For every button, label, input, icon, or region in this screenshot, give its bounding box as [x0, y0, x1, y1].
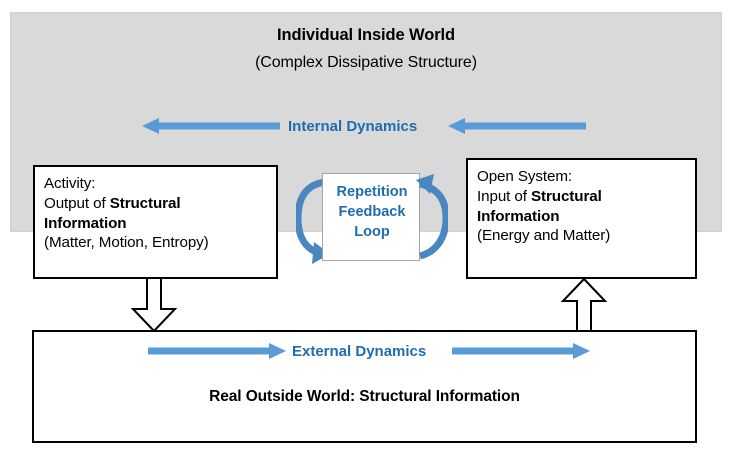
activity-line-4: (Matter, Motion, Entropy) [44, 234, 209, 251]
open-system-line-2-prefix: Input of [477, 188, 531, 205]
feedback-loop-line-3: Loop [354, 224, 389, 240]
inside-world-subtitle: (Complex Dissipative Structure) [10, 54, 722, 72]
feedback-loop-right-curve-arrow [416, 172, 448, 264]
external-dynamics-right-arrow [452, 343, 590, 359]
activity-line-1: Activity: [44, 175, 95, 192]
activity-line-2-prefix: Output of [44, 195, 110, 212]
open-system-line-2-bold: Structural [531, 188, 602, 205]
internal-dynamics-label: Internal Dynamics [288, 118, 417, 135]
activity-box: Activity: Output of Structural Informati… [33, 165, 278, 279]
activity-box-text: Activity: Output of Structural Informati… [44, 174, 271, 253]
activity-line-3-bold: Information [44, 215, 126, 232]
feedback-loop-line-2: Feedback [339, 204, 406, 220]
open-system-box: Open System: Input of Structural Informa… [466, 158, 697, 279]
feedback-loop-box: Repetition Feedback Loop [322, 173, 420, 261]
feedback-loop-line-1: Repetition [337, 184, 408, 200]
internal-dynamics-left-arrow [142, 118, 280, 134]
feedback-loop-text: Repetition Feedback Loop [323, 182, 421, 242]
open-system-line-1: Open System: [477, 168, 572, 185]
open-system-line-4: (Energy and Matter) [477, 227, 610, 244]
external-dynamics-label: External Dynamics [292, 343, 426, 360]
external-dynamics-left-arrow [148, 343, 286, 359]
diagram-canvas: Individual Inside World (Complex Dissipa… [0, 0, 730, 452]
internal-dynamics-right-arrow [448, 118, 586, 134]
inside-world-title: Individual Inside World [10, 26, 722, 45]
activity-line-2-bold: Structural [110, 195, 181, 212]
outside-world-title: Real Outside World: Structural Informati… [32, 388, 697, 406]
open-system-line-3-bold: Information [477, 208, 559, 225]
open-system-box-text: Open System: Input of Structural Informa… [477, 167, 690, 246]
output-connector-arrow-down [128, 278, 180, 332]
input-connector-arrow-up [558, 278, 610, 332]
